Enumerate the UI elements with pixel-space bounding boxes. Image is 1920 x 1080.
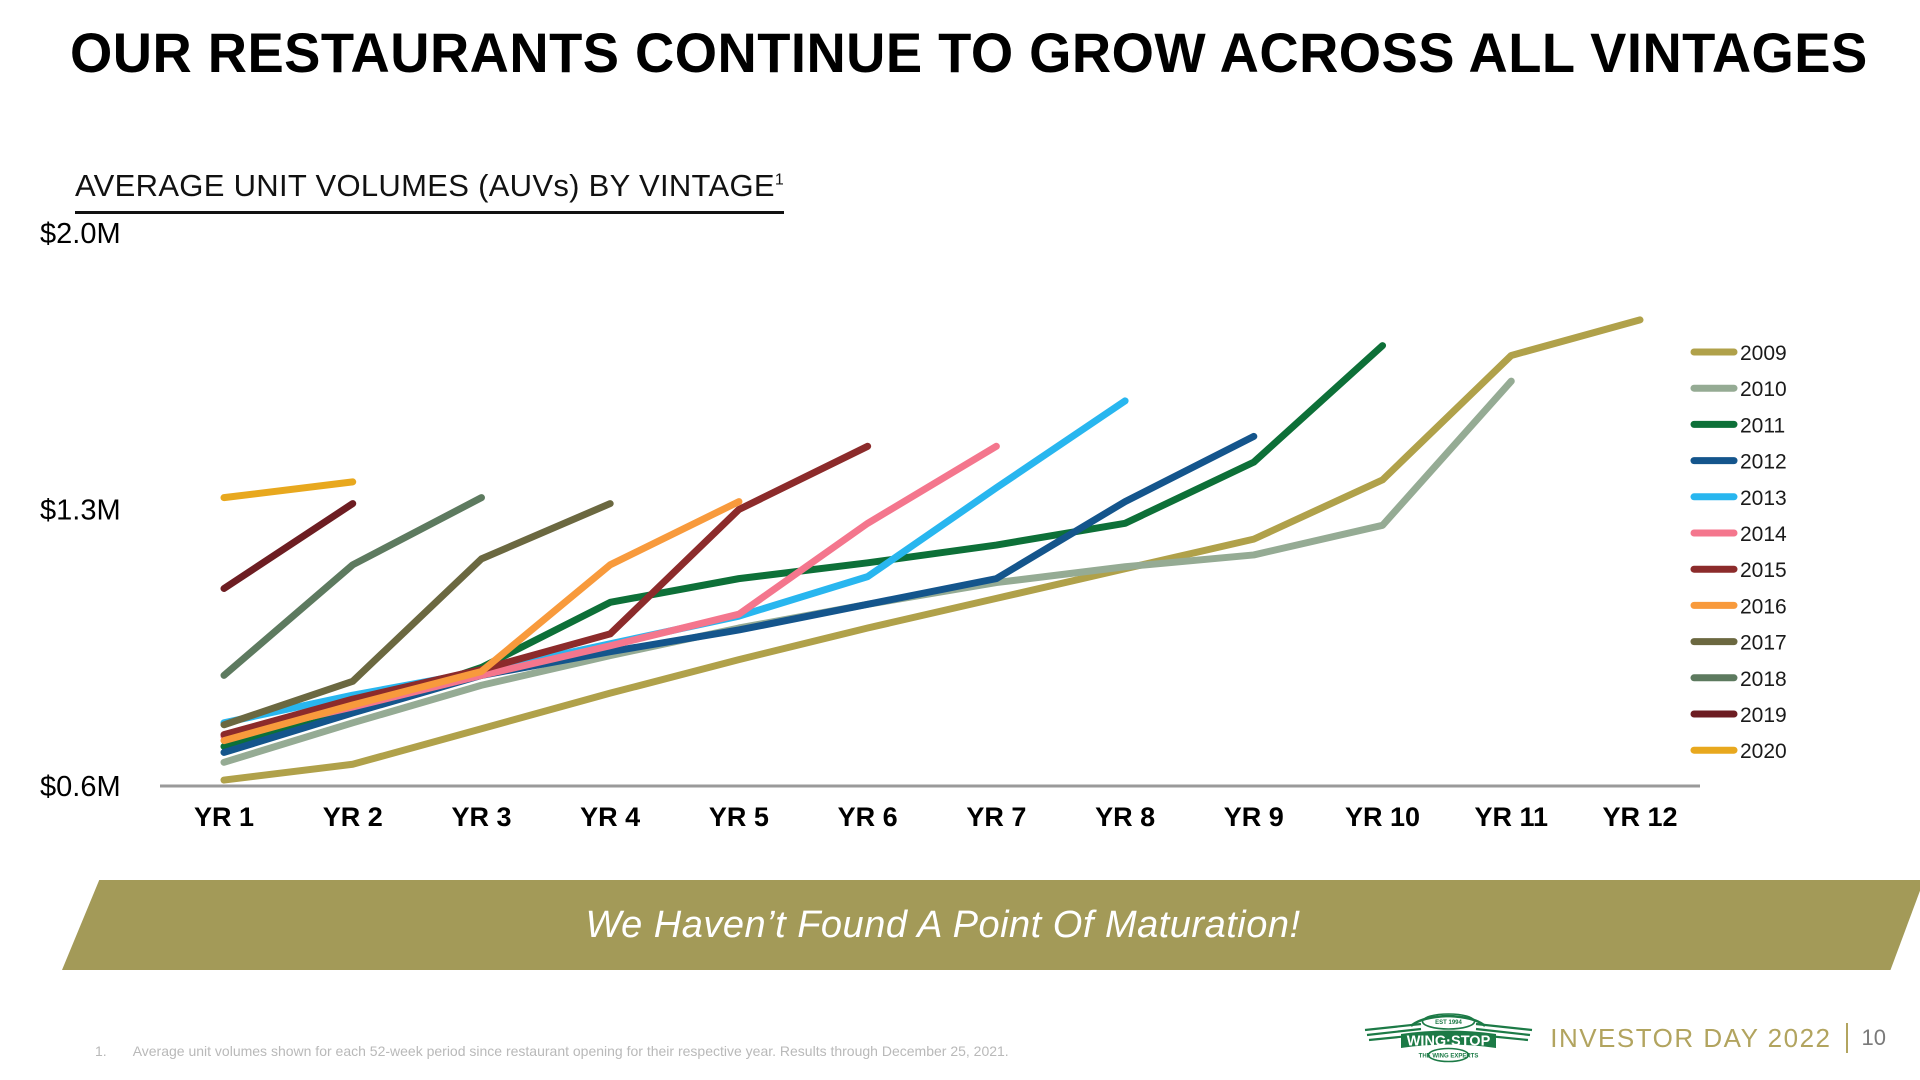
page-number: 10 bbox=[1862, 1025, 1886, 1051]
x-axis-tick-label: YR 10 bbox=[1345, 802, 1420, 832]
footnote-number: 1. bbox=[95, 1043, 107, 1059]
y-axis-labels: $2.0M$1.3M$0.6M bbox=[40, 218, 121, 803]
series-line-2009 bbox=[224, 320, 1640, 780]
svg-text:EST 1994: EST 1994 bbox=[1435, 1020, 1462, 1026]
chart-subtitle-text: AVERAGE UNIT VOLUMES (AUVs) BY VINTAGE bbox=[75, 168, 775, 203]
x-axis-tick-label: YR 5 bbox=[709, 802, 769, 832]
series-line-2020 bbox=[224, 482, 353, 498]
legend-label-2011[interactable]: 2011 bbox=[1740, 414, 1785, 437]
series-line-2016 bbox=[224, 502, 739, 741]
legend-label-2015[interactable]: 2015 bbox=[1740, 559, 1787, 582]
x-axis-tick-label: YR 4 bbox=[580, 802, 640, 832]
series-line-2011 bbox=[224, 346, 1383, 747]
callout-banner-text: We Haven’t Found A Point Of Maturation! bbox=[62, 880, 1920, 970]
series-line-2010 bbox=[224, 381, 1511, 762]
page-title: OUR RESTAURANTS CONTINUE TO GROW ACROSS … bbox=[70, 20, 1868, 85]
y-axis-tick-label: $1.3M bbox=[40, 495, 121, 527]
series-line-2018 bbox=[224, 498, 481, 676]
footer-divider bbox=[1846, 1023, 1848, 1053]
x-axis-tick-label: YR 6 bbox=[838, 802, 898, 832]
series-line-2012 bbox=[224, 436, 1254, 752]
y-axis-tick-label: $0.6M bbox=[40, 771, 121, 803]
legend-label-2014[interactable]: 2014 bbox=[1740, 523, 1787, 546]
legend-label-2013[interactable]: 2013 bbox=[1740, 487, 1787, 510]
x-axis-tick-label: YR 1 bbox=[194, 802, 254, 832]
legend-label-2010[interactable]: 2010 bbox=[1740, 378, 1787, 401]
x-axis-tick-label: YR 9 bbox=[1224, 802, 1284, 832]
x-axis-tick-label: YR 12 bbox=[1602, 802, 1677, 832]
footer-brand: WING·STOP EST 1994 THE WING EXPERTS INVE… bbox=[1361, 1010, 1886, 1066]
chart-legend: 2009201020112012201320142015201620172018… bbox=[1694, 342, 1787, 763]
series-line-2019 bbox=[224, 504, 353, 589]
x-axis-tick-label: YR 7 bbox=[966, 802, 1026, 832]
series-lines bbox=[224, 320, 1640, 780]
series-line-2017 bbox=[224, 504, 610, 725]
series-line-2015 bbox=[224, 446, 868, 734]
series-line-2013 bbox=[224, 401, 1125, 723]
investor-day-label: INVESTOR DAY 2022 bbox=[1550, 1023, 1831, 1054]
legend-label-2020[interactable]: 2020 bbox=[1740, 740, 1787, 763]
x-axis-labels: YR 1YR 2YR 3YR 4YR 5YR 6YR 7YR 8YR 9YR 1… bbox=[194, 802, 1678, 832]
chart-subtitle: AVERAGE UNIT VOLUMES (AUVs) BY VINTAGE1 bbox=[75, 168, 784, 214]
legend-label-2012[interactable]: 2012 bbox=[1740, 451, 1787, 474]
legend-label-2016[interactable]: 2016 bbox=[1740, 595, 1787, 618]
wingstop-logo-icon: WING·STOP EST 1994 THE WING EXPERTS bbox=[1361, 1010, 1536, 1066]
x-axis-tick-label: YR 3 bbox=[451, 802, 511, 832]
x-axis-tick-label: YR 11 bbox=[1474, 802, 1548, 832]
footnote: 1. Average unit volumes shown for each 5… bbox=[95, 1043, 1009, 1059]
legend-label-2017[interactable]: 2017 bbox=[1740, 632, 1787, 655]
callout-banner: We Haven’t Found A Point Of Maturation! bbox=[62, 880, 1920, 970]
svg-text:THE WING EXPERTS: THE WING EXPERTS bbox=[1419, 1054, 1479, 1060]
series-line-2014 bbox=[224, 446, 996, 736]
legend-label-2019[interactable]: 2019 bbox=[1740, 704, 1787, 727]
x-axis-tick-label: YR 2 bbox=[323, 802, 383, 832]
chart-subtitle-footnote-marker: 1 bbox=[775, 172, 784, 189]
legend-label-2009[interactable]: 2009 bbox=[1740, 342, 1787, 365]
wingstop-wordmark: WING·STOP bbox=[1407, 1034, 1491, 1050]
x-axis-tick-label: YR 8 bbox=[1095, 802, 1155, 832]
footnote-text: Average unit volumes shown for each 52-w… bbox=[133, 1043, 1009, 1059]
y-axis-tick-label: $2.0M bbox=[40, 218, 121, 250]
legend-label-2018[interactable]: 2018 bbox=[1740, 668, 1787, 691]
